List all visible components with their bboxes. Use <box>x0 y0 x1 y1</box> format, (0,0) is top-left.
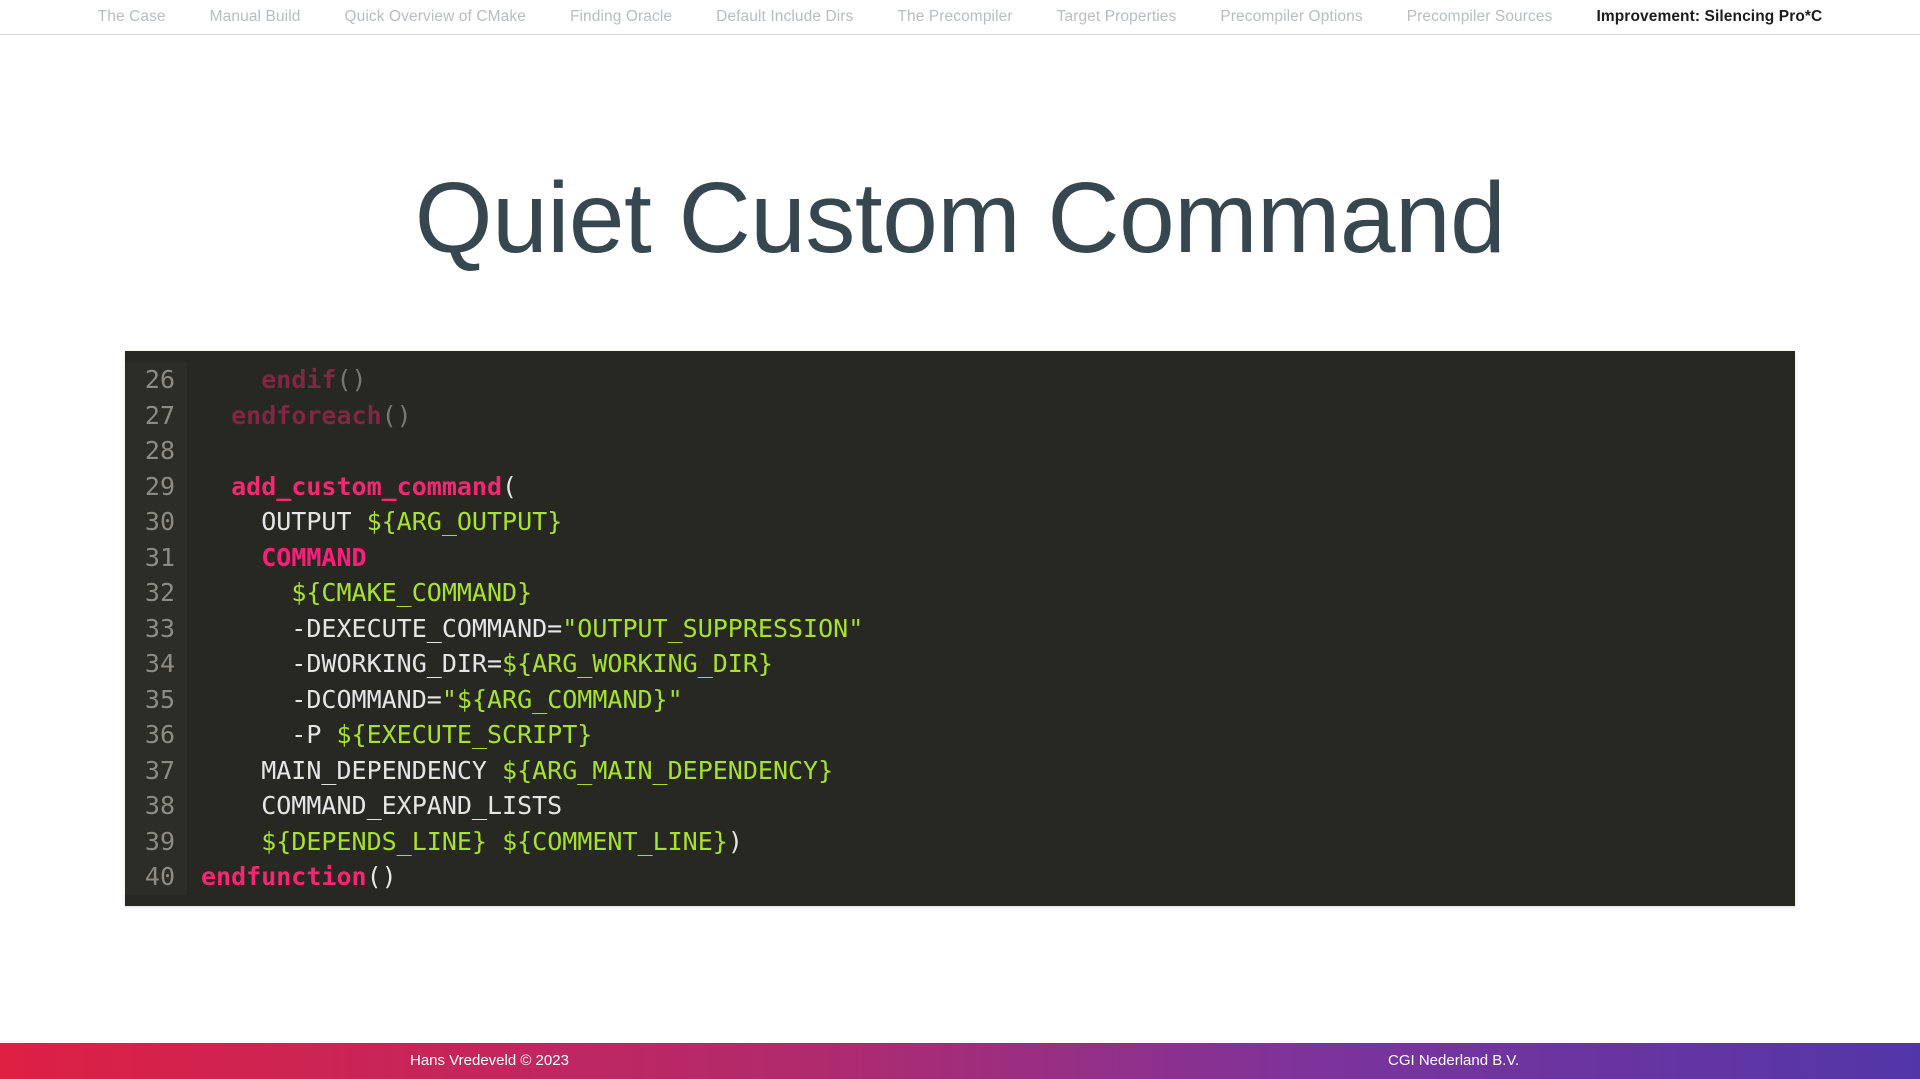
code-line-text: ${CMAKE_COMMAND} <box>187 575 532 611</box>
code-token: ${CMAKE_COMMAND} <box>291 578 532 607</box>
code-line-text: -DWORKING_DIR=${ARG_WORKING_DIR} <box>187 646 773 682</box>
line-number: 28 <box>125 433 187 469</box>
line-number: 37 <box>125 753 187 789</box>
code-token: -DEXECUTE_COMMAND= <box>201 614 562 643</box>
code-token: add_custom_command <box>231 472 502 501</box>
line-number: 32 <box>125 575 187 611</box>
line-number: 40 <box>125 859 187 895</box>
code-line: 27 endforeach() <box>125 398 1795 434</box>
nav-item-improvement-silencing-pro-c[interactable]: Improvement: Silencing Pro*C <box>1574 0 1844 34</box>
code-token: ${ARG_COMMAND} <box>457 685 668 714</box>
code-line: 40endfunction() <box>125 859 1795 895</box>
line-number: 30 <box>125 504 187 540</box>
line-number: 35 <box>125 682 187 718</box>
code-line: 39 ${DEPENDS_LINE} ${COMMENT_LINE}) <box>125 824 1795 860</box>
code-line-text: COMMAND <box>187 540 367 576</box>
code-token: ${ARG_OUTPUT} <box>367 507 563 536</box>
code-token: ${ARG_WORKING_DIR} <box>502 649 773 678</box>
nav-item-precompiler-options[interactable]: Precompiler Options <box>1198 0 1384 34</box>
code-line: 36 -P ${EXECUTE_SCRIPT} <box>125 717 1795 753</box>
code-line: 34 -DWORKING_DIR=${ARG_WORKING_DIR} <box>125 646 1795 682</box>
code-token: OUTPUT <box>201 507 367 536</box>
code-token: MAIN_DEPENDENCY <box>201 756 502 785</box>
code-token <box>201 472 231 501</box>
code-line-text: OUTPUT ${ARG_OUTPUT} <box>187 504 562 540</box>
code-token: COMMAND_EXPAND_LISTS <box>201 791 562 820</box>
code-token: -DCOMMAND= <box>201 685 442 714</box>
code-line: 32 ${CMAKE_COMMAND} <box>125 575 1795 611</box>
code-token: " <box>668 685 683 714</box>
code-token <box>201 365 261 394</box>
nav-item-the-precompiler[interactable]: The Precompiler <box>875 0 1034 34</box>
code-token: ${DEPENDS_LINE} <box>261 827 487 856</box>
code-token: -P <box>201 720 336 749</box>
nav-item-the-case[interactable]: The Case <box>76 0 188 34</box>
code-token: ${EXECUTE_SCRIPT} <box>336 720 592 749</box>
code-token: " <box>442 685 457 714</box>
top-navigation-bar: The CaseManual BuildQuick Overview of CM… <box>0 0 1920 35</box>
line-number: 31 <box>125 540 187 576</box>
nav-item-default-include-dirs[interactable]: Default Include Dirs <box>694 0 875 34</box>
page-title: Quiet Custom Command <box>0 168 1920 268</box>
code-token: ${ARG_MAIN_DEPENDENCY} <box>502 756 833 785</box>
code-token: ${COMMENT_LINE} <box>502 827 728 856</box>
code-line-text: ${DEPENDS_LINE} ${COMMENT_LINE}) <box>187 824 743 860</box>
code-line-text: add_custom_command( <box>187 469 517 505</box>
nav-item-precompiler-sources[interactable]: Precompiler Sources <box>1385 0 1575 34</box>
code-token: endfunction <box>201 862 367 891</box>
code-token: ( <box>502 472 517 501</box>
code-token: () <box>367 862 397 891</box>
code-token: "OUTPUT_SUPPRESSION" <box>562 614 863 643</box>
code-line: 28 <box>125 433 1795 469</box>
slide-canvas: Quiet Custom Command 26 endif()27 endfor… <box>0 36 1920 1043</box>
code-token: () <box>382 401 412 430</box>
line-number: 26 <box>125 362 187 398</box>
code-token <box>201 827 261 856</box>
code-token <box>201 543 261 572</box>
line-number: 34 <box>125 646 187 682</box>
code-token <box>201 578 291 607</box>
code-line: 37 MAIN_DEPENDENCY ${ARG_MAIN_DEPENDENCY… <box>125 753 1795 789</box>
line-number: 27 <box>125 398 187 434</box>
line-number: 36 <box>125 717 187 753</box>
footer-bar: Hans Vredeveld © 2023 CGI Nederland B.V. <box>0 1043 1920 1079</box>
code-line: 33 -DEXECUTE_COMMAND="OUTPUT_SUPPRESSION… <box>125 611 1795 647</box>
code-line: 26 endif() <box>125 362 1795 398</box>
code-line-text: -P ${EXECUTE_SCRIPT} <box>187 717 592 753</box>
line-number: 29 <box>125 469 187 505</box>
code-line-text: MAIN_DEPENDENCY ${ARG_MAIN_DEPENDENCY} <box>187 753 833 789</box>
code-line-text: -DEXECUTE_COMMAND="OUTPUT_SUPPRESSION" <box>187 611 863 647</box>
line-number: 33 <box>125 611 187 647</box>
code-line-text: endif() <box>187 362 367 398</box>
code-token <box>487 827 502 856</box>
code-line-text: COMMAND_EXPAND_LISTS <box>187 788 562 824</box>
nav-item-quick-overview-of-cmake[interactable]: Quick Overview of CMake <box>322 0 547 34</box>
code-token: COMMAND <box>261 543 366 572</box>
code-line: 35 -DCOMMAND="${ARG_COMMAND}" <box>125 682 1795 718</box>
code-token: -DWORKING_DIR= <box>201 649 502 678</box>
code-line-text: endfunction() <box>187 859 397 895</box>
nav-item-target-properties[interactable]: Target Properties <box>1035 0 1199 34</box>
code-line: 30 OUTPUT ${ARG_OUTPUT} <box>125 504 1795 540</box>
line-number: 39 <box>125 824 187 860</box>
code-token: endif <box>261 365 336 394</box>
code-block: 26 endif()27 endforeach()2829 add_custom… <box>125 351 1795 906</box>
code-line-text: -DCOMMAND="${ARG_COMMAND}" <box>187 682 683 718</box>
code-line: 38 COMMAND_EXPAND_LISTS <box>125 788 1795 824</box>
footer-company: CGI Nederland B.V. <box>1388 1043 1519 1079</box>
nav-item-finding-oracle[interactable]: Finding Oracle <box>548 0 694 34</box>
nav-item-manual-build[interactable]: Manual Build <box>188 0 323 34</box>
code-line-text: endforeach() <box>187 398 412 434</box>
footer-copyright: Hans Vredeveld © 2023 <box>410 1043 569 1079</box>
code-line: 31 COMMAND <box>125 540 1795 576</box>
code-token: () <box>336 365 366 394</box>
line-number: 38 <box>125 788 187 824</box>
code-token: endforeach <box>231 401 382 430</box>
code-token: ) <box>728 827 743 856</box>
code-token <box>201 401 231 430</box>
code-line: 29 add_custom_command( <box>125 469 1795 505</box>
